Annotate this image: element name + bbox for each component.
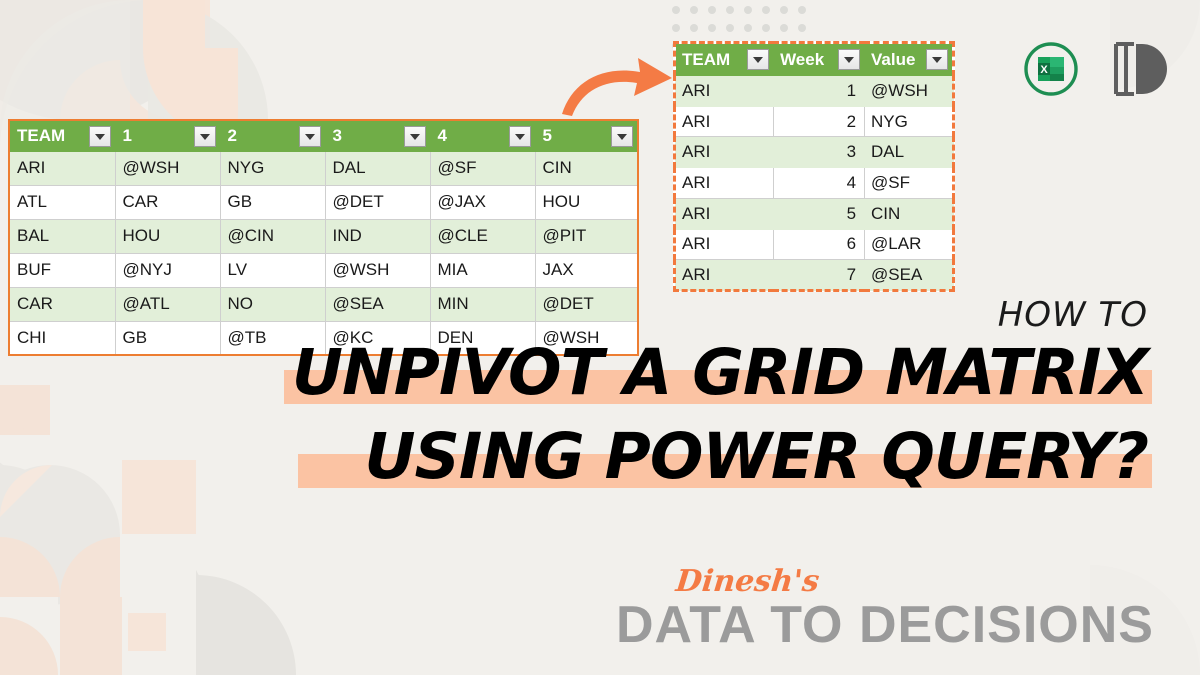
cell-week3[interactable]: @DET: [325, 185, 430, 219]
cell-team[interactable]: ARI: [675, 168, 774, 199]
cell-week5[interactable]: CIN: [535, 151, 638, 185]
cell-value[interactable]: @SEA: [865, 260, 954, 291]
cell-week3[interactable]: DAL: [325, 151, 430, 185]
cell-week1[interactable]: @ATL: [115, 287, 220, 321]
dot: [762, 6, 770, 14]
filter-dropdown-icon[interactable]: [404, 126, 426, 147]
table-row[interactable]: BAL HOU @CIN IND @CLE @PIT: [9, 219, 638, 253]
cell-week[interactable]: 2: [774, 106, 865, 137]
cell-week2[interactable]: @CIN: [220, 219, 325, 253]
cell-week1[interactable]: @WSH: [115, 151, 220, 185]
cell-value[interactable]: @SF: [865, 168, 954, 199]
cell-week4[interactable]: @JAX: [430, 185, 535, 219]
dot: [798, 24, 806, 32]
table-row[interactable]: ARI 5 CIN: [675, 198, 954, 229]
logo-row: X: [1022, 40, 1172, 103]
table-row[interactable]: ATL CAR GB @DET @JAX HOU: [9, 185, 638, 219]
unpivoted-result-table[interactable]: TEAM Week Value ARI 1 @WSH ARI 2 NYG ARI: [673, 41, 955, 292]
cell-value[interactable]: DAL: [865, 137, 954, 168]
cell-week5[interactable]: JAX: [535, 253, 638, 287]
cell-week1[interactable]: GB: [115, 321, 220, 355]
dot: [780, 24, 788, 32]
cell-team[interactable]: ARI: [675, 229, 774, 260]
cell-team[interactable]: CAR: [9, 287, 115, 321]
title-line-1-text: UNPIVOT A GRID MATRIX: [292, 336, 1148, 409]
title-line-2: USING POWER QUERY?: [292, 424, 1148, 490]
cell-team[interactable]: BAL: [9, 219, 115, 253]
table-row[interactable]: ARI @WSH NYG DAL @SF CIN: [9, 151, 638, 185]
dot: [798, 6, 806, 14]
cell-week1[interactable]: HOU: [115, 219, 220, 253]
dot: [744, 6, 752, 14]
cell-week3[interactable]: IND: [325, 219, 430, 253]
title-line-1: UNPIVOT A GRID MATRIX: [292, 340, 1148, 406]
d-monogram-icon: [1110, 40, 1172, 103]
dot: [708, 6, 716, 14]
table-row[interactable]: BUF @NYJ LV @WSH MIA JAX: [9, 253, 638, 287]
cell-week4[interactable]: @CLE: [430, 219, 535, 253]
cell-week5[interactable]: @PIT: [535, 219, 638, 253]
column-header-week[interactable]: Week: [774, 43, 865, 76]
cell-week2[interactable]: NYG: [220, 151, 325, 185]
cell-week[interactable]: 3: [774, 137, 865, 168]
eyebrow-text: HOW TO: [292, 298, 1148, 332]
dot: [726, 24, 734, 32]
brand-script-text: Dinesh's: [674, 567, 1155, 597]
dot: [708, 24, 716, 32]
filter-dropdown-icon[interactable]: [747, 49, 769, 70]
cell-team[interactable]: ARI: [9, 151, 115, 185]
cell-week1[interactable]: CAR: [115, 185, 220, 219]
table-row[interactable]: ARI 7 @SEA: [675, 260, 954, 291]
title-line-2-text: USING POWER QUERY?: [364, 420, 1148, 493]
filter-dropdown-icon[interactable]: [89, 126, 111, 147]
cell-team[interactable]: ATL: [9, 185, 115, 219]
dot: [672, 6, 680, 14]
cell-team[interactable]: BUF: [9, 253, 115, 287]
cell-week5[interactable]: HOU: [535, 185, 638, 219]
headline-block: HOW TO UNPIVOT A GRID MATRIX USING POWER…: [292, 298, 1148, 490]
cell-team[interactable]: CHI: [9, 321, 115, 355]
cell-week[interactable]: 4: [774, 168, 865, 199]
dot: [690, 24, 698, 32]
cell-value[interactable]: @WSH: [865, 76, 954, 107]
cell-week1[interactable]: @NYJ: [115, 253, 220, 287]
filter-dropdown-icon[interactable]: [509, 126, 531, 147]
filter-dropdown-icon[interactable]: [838, 49, 860, 70]
column-header-5[interactable]: 5: [535, 120, 638, 151]
table-header-row: TEAM 1 2 3 4 5: [9, 120, 638, 151]
table-row[interactable]: ARI 4 @SF: [675, 168, 954, 199]
filter-dropdown-icon[interactable]: [611, 126, 633, 147]
cell-week[interactable]: 5: [774, 198, 865, 229]
dot: [726, 6, 734, 14]
filter-dropdown-icon[interactable]: [299, 126, 321, 147]
filter-dropdown-icon[interactable]: [926, 49, 948, 70]
table-row[interactable]: ARI 6 @LAR: [675, 229, 954, 260]
column-header-2[interactable]: 2: [220, 120, 325, 151]
cell-team[interactable]: ARI: [675, 260, 774, 291]
cell-week[interactable]: 6: [774, 229, 865, 260]
cell-team[interactable]: ARI: [675, 137, 774, 168]
cell-week[interactable]: 7: [774, 260, 865, 291]
cell-week4[interactable]: @SF: [430, 151, 535, 185]
dot: [762, 24, 770, 32]
cell-value[interactable]: CIN: [865, 198, 954, 229]
dot: [672, 24, 680, 32]
cell-week2[interactable]: GB: [220, 185, 325, 219]
dot: [744, 24, 752, 32]
curved-arrow-right-icon: [558, 48, 678, 123]
brand-name-text: DATA TO DECISIONS: [616, 599, 1154, 651]
column-header-team[interactable]: TEAM: [9, 120, 115, 151]
table-header-row: TEAM Week Value: [675, 43, 954, 76]
column-header-value[interactable]: Value: [865, 43, 954, 76]
cell-week4[interactable]: MIA: [430, 253, 535, 287]
column-header-1[interactable]: 1: [115, 120, 220, 151]
dot: [690, 6, 698, 14]
table-row[interactable]: ARI 3 DAL: [675, 137, 954, 168]
cell-team[interactable]: ARI: [675, 76, 774, 107]
svg-text:X: X: [1040, 64, 1048, 76]
column-header-team[interactable]: TEAM: [675, 43, 774, 76]
cell-value[interactable]: @LAR: [865, 229, 954, 260]
column-header-3[interactable]: 3: [325, 120, 430, 151]
brand-block: Dinesh's DATA TO DECISIONS: [616, 567, 1154, 651]
table-row[interactable]: ARI 1 @WSH: [675, 76, 954, 107]
filter-dropdown-icon[interactable]: [194, 126, 216, 147]
dot: [780, 6, 788, 14]
excel-icon: X: [1022, 40, 1080, 103]
cell-team[interactable]: ARI: [675, 198, 774, 229]
table-row[interactable]: ARI 2 NYG: [675, 106, 954, 137]
cell-week2[interactable]: LV: [220, 253, 325, 287]
cell-week3[interactable]: @WSH: [325, 253, 430, 287]
cell-team[interactable]: ARI: [675, 106, 774, 137]
cell-value[interactable]: NYG: [865, 106, 954, 137]
column-header-4[interactable]: 4: [430, 120, 535, 151]
cell-week[interactable]: 1: [774, 76, 865, 107]
